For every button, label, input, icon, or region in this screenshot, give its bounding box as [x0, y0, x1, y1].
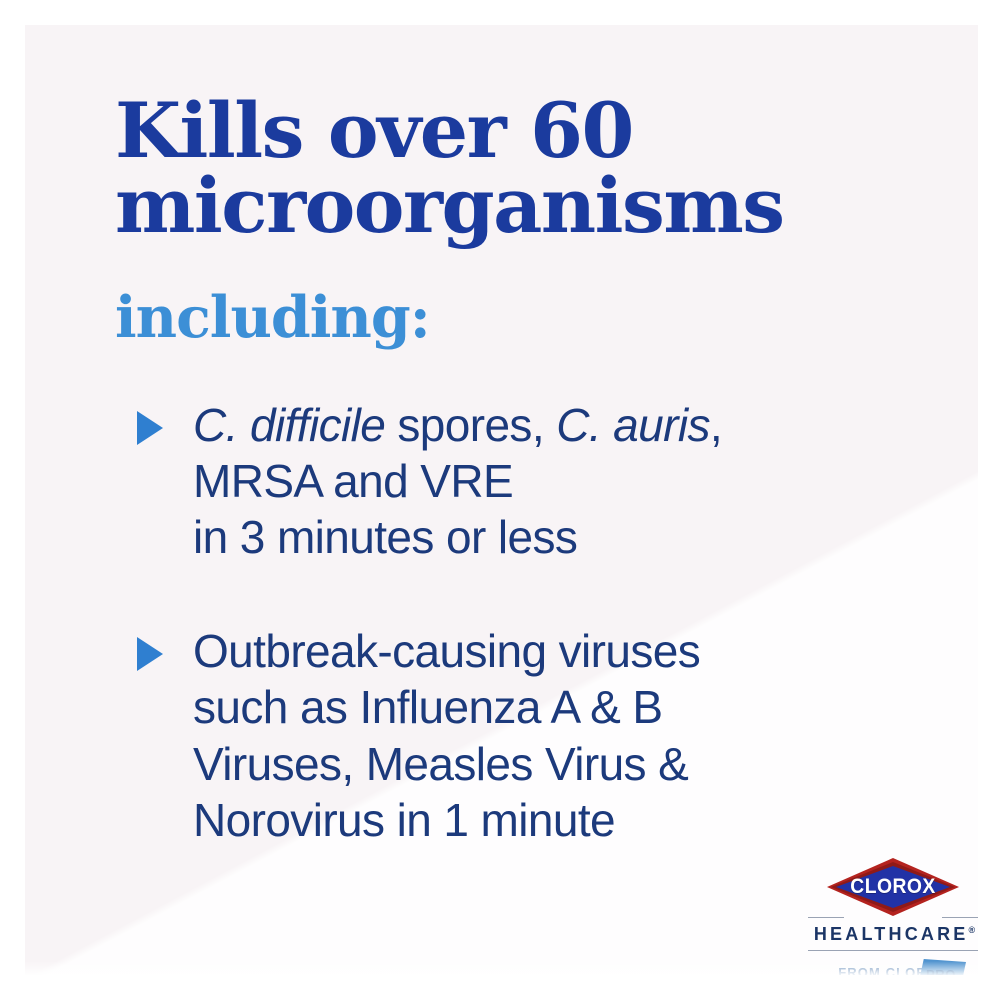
line-segment: spores,: [385, 399, 556, 451]
triangle-right-icon: [137, 411, 163, 445]
list-item-line: MRSA and VRE: [193, 453, 935, 509]
list-item-line: Viruses, Measles Virus &: [193, 736, 935, 792]
headline-subhead: including:: [115, 289, 430, 346]
list-item-line: in 3 minutes or less: [193, 509, 935, 565]
species-name: C. auris: [556, 399, 710, 451]
page-title: Kills over 60 microorganisms: [115, 93, 915, 243]
headline-line-2: microorganisms: [115, 168, 915, 243]
registered-mark: ®: [969, 925, 976, 935]
claim-card: Kills over 60 microorganisms including: …: [25, 25, 978, 975]
rule-segment-right: [942, 917, 978, 918]
logo-rule-top: [808, 917, 978, 919]
list-item: Outbreak-causing viruses such as Influen…: [115, 623, 935, 847]
clorox-healthcare-logo: CLOROX HEALTHCARE® FROM CLOROX PRO ®: [808, 858, 978, 975]
headline-line-1: Kills over 60: [115, 93, 915, 168]
claims-list: C. difficile spores, C. auris, MRSA and …: [115, 397, 935, 848]
list-item-text: Outbreak-causing viruses such as Influen…: [193, 623, 935, 847]
clorox-wordmark: CLOROX: [832, 858, 953, 916]
list-item-line: Norovirus in 1 minute: [193, 792, 935, 848]
line-segment: ,: [710, 399, 722, 451]
species-name: C. difficile: [193, 399, 385, 451]
rule-segment-left: [808, 917, 844, 918]
healthcare-wordmark: HEALTHCARE®: [808, 924, 978, 945]
product-claim-graphic: Kills over 60 microorganisms including: …: [0, 0, 1000, 1000]
clorox-diamond-icon: CLOROX: [827, 858, 959, 916]
triangle-right-icon: [137, 637, 163, 671]
list-item-text: C. difficile spores, C. auris, MRSA and …: [193, 397, 935, 565]
list-item-line: such as Influenza A & B: [193, 679, 935, 735]
logo-rule-bottom: [808, 950, 978, 951]
cloroxpro-tagline: FROM CLOROX PRO ®: [808, 962, 978, 975]
list-item-line: C. difficile spores, C. auris,: [193, 397, 935, 453]
pro-badge-text: PRO: [921, 964, 961, 975]
healthcare-text: HEALTHCARE: [814, 924, 969, 944]
list-item-line: Outbreak-causing viruses: [193, 623, 935, 679]
list-item: C. difficile spores, C. auris, MRSA and …: [115, 397, 935, 565]
